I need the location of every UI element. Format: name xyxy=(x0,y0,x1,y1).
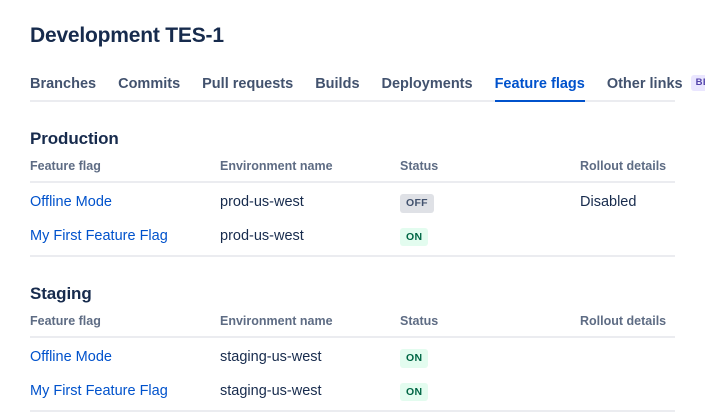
column-header-flag: Feature flag xyxy=(30,311,220,337)
cell-feature-flag: Offline Mode xyxy=(30,182,220,217)
cell-status: ON xyxy=(400,337,580,372)
table-row: My First Feature Flagstaging-us-westON xyxy=(30,372,675,412)
tab-other-links[interactable]: Other linksBETA xyxy=(607,75,705,100)
development-panel: Development TES-1 BranchesCommitsPull re… xyxy=(0,0,705,412)
table-header-row: Feature flagEnvironment nameStatusRollou… xyxy=(30,156,675,182)
feature-flags-table: Feature flagEnvironment nameStatusRollou… xyxy=(30,311,675,412)
table-row: Offline Modestaging-us-westON xyxy=(30,337,675,372)
tab-feature-flags[interactable]: Feature flags xyxy=(495,75,585,100)
column-header-rollout: Rollout details xyxy=(580,311,675,337)
column-header-environment: Environment name xyxy=(220,311,400,337)
tab-branches[interactable]: Branches xyxy=(30,75,96,100)
tab-commits[interactable]: Commits xyxy=(118,75,180,100)
section-title: Production xyxy=(30,128,675,150)
tab-label: Deployments xyxy=(382,75,473,93)
feature-flag-link[interactable]: My First Feature Flag xyxy=(30,383,168,399)
table-row: Offline Modeprod-us-westOFFDisabled xyxy=(30,182,675,217)
section-production: ProductionFeature flagEnvironment nameSt… xyxy=(30,128,675,257)
cell-rollout-details xyxy=(580,337,675,372)
column-header-status: Status xyxy=(400,156,580,182)
cell-status: ON xyxy=(400,217,580,257)
section-title: Staging xyxy=(30,283,675,305)
status-badge: ON xyxy=(400,349,428,368)
cell-rollout-details xyxy=(580,372,675,412)
tab-label: Branches xyxy=(30,75,96,93)
cell-environment-name: prod-us-west xyxy=(220,182,400,217)
status-badge: OFF xyxy=(400,194,434,213)
tab-label: Other links xyxy=(607,75,683,93)
feature-flags-table: Feature flagEnvironment nameStatusRollou… xyxy=(30,156,675,257)
cell-environment-name: prod-us-west xyxy=(220,217,400,257)
beta-badge: BETA xyxy=(691,75,705,91)
column-header-flag: Feature flag xyxy=(30,156,220,182)
status-badge: ON xyxy=(400,228,428,247)
cell-feature-flag: My First Feature Flag xyxy=(30,372,220,412)
column-header-rollout: Rollout details xyxy=(580,156,675,182)
tab-bar: BranchesCommitsPull requestsBuildsDeploy… xyxy=(30,74,675,102)
feature-flag-link[interactable]: Offline Mode xyxy=(30,194,112,210)
cell-rollout-details: Disabled xyxy=(580,182,675,217)
tab-pull-requests[interactable]: Pull requests xyxy=(202,75,293,100)
column-header-environment: Environment name xyxy=(220,156,400,182)
cell-environment-name: staging-us-west xyxy=(220,372,400,412)
section-staging: StagingFeature flagEnvironment nameStatu… xyxy=(30,283,675,412)
tab-label: Feature flags xyxy=(495,75,585,93)
table-header-row: Feature flagEnvironment nameStatusRollou… xyxy=(30,311,675,337)
cell-feature-flag: Offline Mode xyxy=(30,337,220,372)
feature-flag-link[interactable]: My First Feature Flag xyxy=(30,228,168,244)
cell-status: ON xyxy=(400,372,580,412)
cell-environment-name: staging-us-west xyxy=(220,337,400,372)
column-header-status: Status xyxy=(400,311,580,337)
cell-feature-flag: My First Feature Flag xyxy=(30,217,220,257)
feature-flag-link[interactable]: Offline Mode xyxy=(30,349,112,365)
cell-rollout-details xyxy=(580,217,675,257)
page-title: Development TES-1 xyxy=(30,0,675,50)
tab-label: Pull requests xyxy=(202,75,293,93)
sections-container: ProductionFeature flagEnvironment nameSt… xyxy=(30,128,675,412)
tab-label: Builds xyxy=(315,75,359,93)
tab-label: Commits xyxy=(118,75,180,93)
cell-status: OFF xyxy=(400,182,580,217)
tab-deployments[interactable]: Deployments xyxy=(382,75,473,100)
table-row: My First Feature Flagprod-us-westON xyxy=(30,217,675,257)
tab-builds[interactable]: Builds xyxy=(315,75,359,100)
status-badge: ON xyxy=(400,383,428,402)
